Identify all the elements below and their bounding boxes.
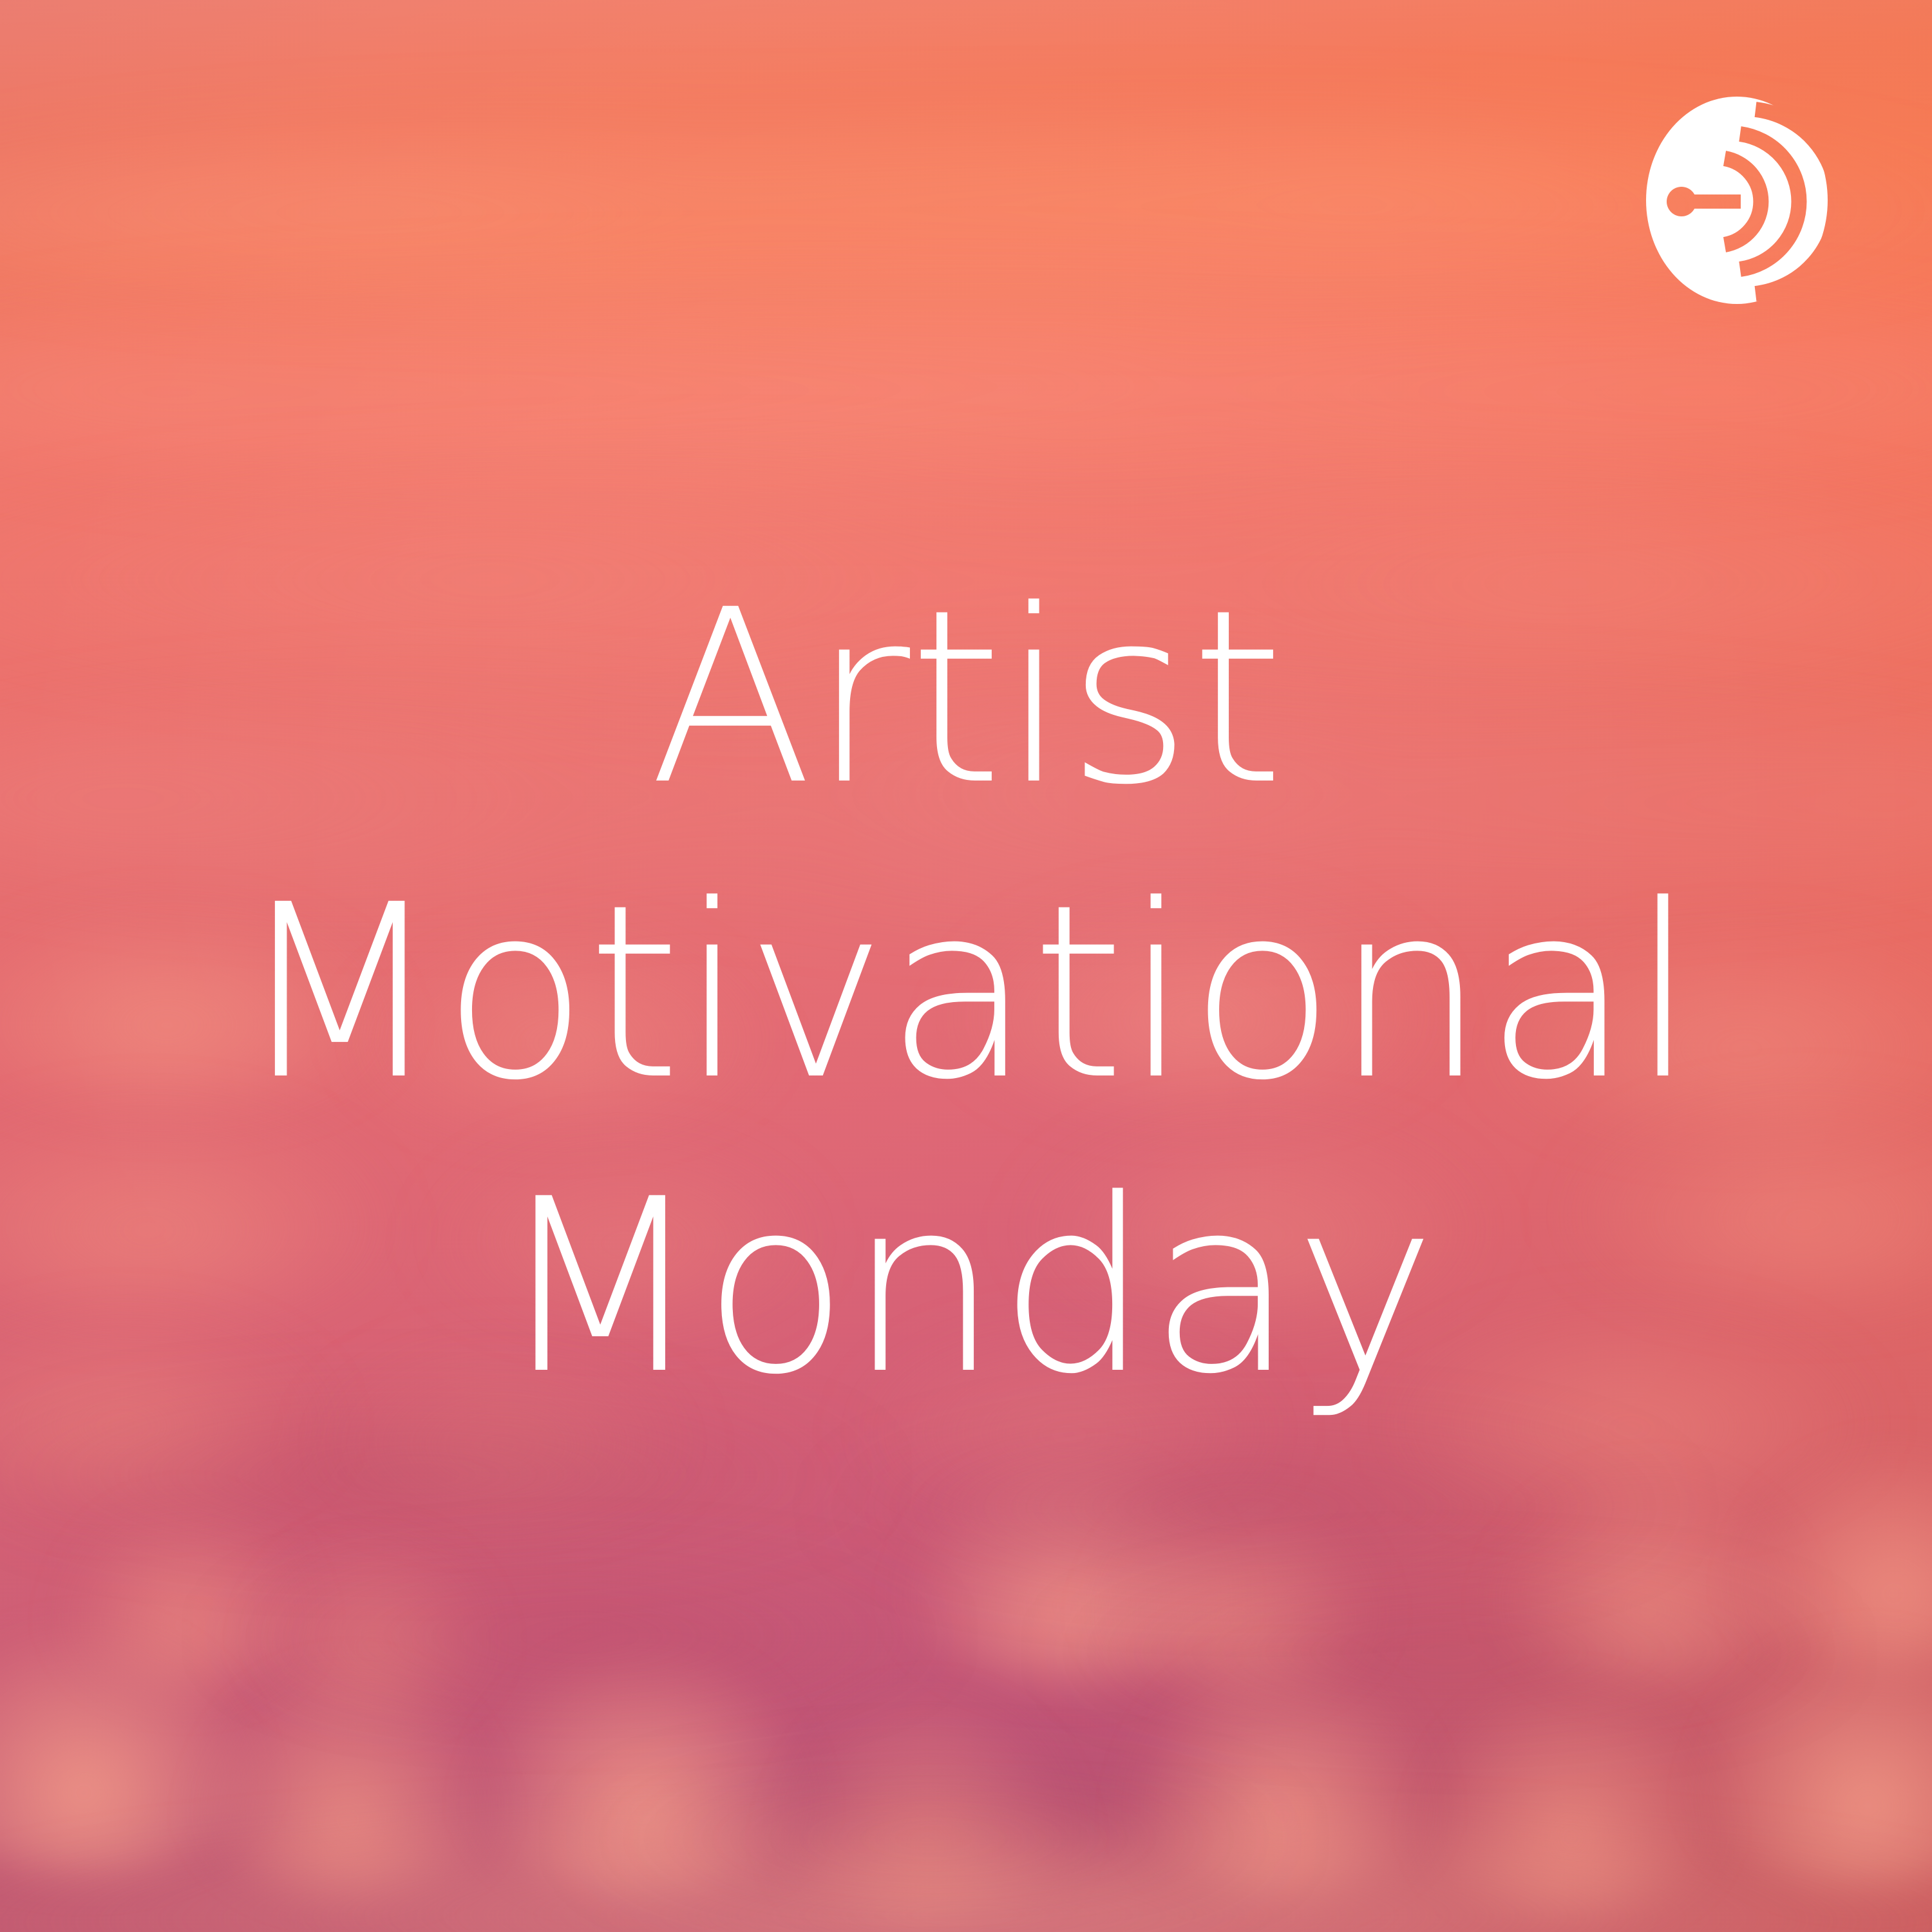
cover-title-block: Artist Motivational Monday	[0, 551, 1932, 1435]
anchor-podcast-logo[interactable]	[1646, 97, 1828, 304]
title-line-2: Motivational	[77, 846, 1855, 1141]
page-title: Artist Motivational Monday	[77, 551, 1855, 1435]
title-line-3: Monday	[77, 1140, 1855, 1435]
title-line-1: Artist	[77, 551, 1855, 846]
podcast-cover-art: Artist Motivational Monday	[0, 0, 1932, 1932]
